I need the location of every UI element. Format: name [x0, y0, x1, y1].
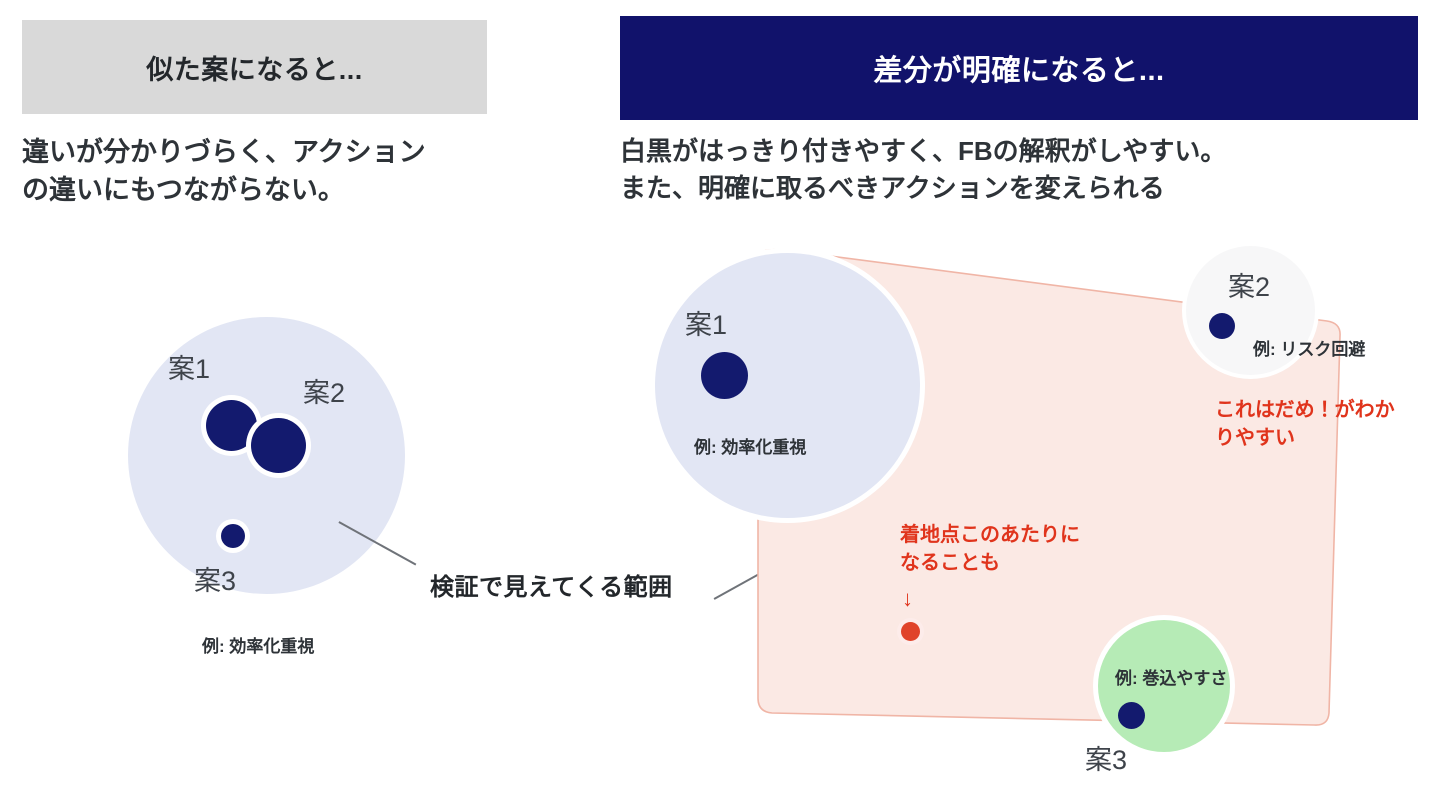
left-plan1-label: 案1 [168, 347, 210, 386]
right-plan2-dot [1209, 313, 1235, 339]
left-panel-header: 似た案になると... [22, 20, 487, 114]
right-panel-subtitle: 白黒がはっきり付きやすく、FBの解釈がしやすい。 また、明確に取るべきアクション… [620, 133, 1400, 207]
left-panel-subtitle: 違いが分かりづらく、アクション の違いにもつながらない。 [22, 133, 542, 210]
left-caption: 例: 効率化重視 [202, 632, 314, 657]
left-plan1-dot [206, 400, 257, 451]
right-plan2-caption: 例: リスク回避 [1253, 335, 1365, 360]
landing-note: 着地点このあたりに なることも [900, 522, 1130, 577]
down-arrow-icon: ↓ [902, 588, 913, 610]
right-plan3-caption: 例: 巻込やすさ [1115, 664, 1227, 689]
right-panel-header-text: 差分が明確になると... [873, 47, 1164, 89]
left-panel-header-text: 似た案になると... [146, 48, 363, 87]
right-plan3-dot [1118, 702, 1145, 729]
risk-note: これはだめ！がわか りやすい [1215, 397, 1440, 452]
right-plan1-circle [655, 253, 920, 518]
right-plan3-label: 案3 [1085, 738, 1127, 777]
right-panel-header: 差分が明確になると... [620, 16, 1418, 120]
right-plan1-caption: 例: 効率化重視 [694, 433, 806, 458]
left-plan3-label: 案3 [194, 559, 236, 598]
right-plan1-dot [701, 352, 748, 399]
landing-point-dot [901, 622, 920, 641]
right-plan1-label: 案1 [685, 303, 727, 342]
scope-annotation-label: 検証で見えてくる範囲 [430, 567, 673, 602]
left-plan2-dot [251, 418, 306, 473]
slide-canvas: 似た案になると... 違いが分かりづらく、アクション の違いにもつながらない。 … [0, 0, 1440, 792]
right-plan2-label: 案2 [1228, 265, 1270, 304]
left-plan3-dot [221, 524, 245, 548]
left-plan2-label: 案2 [303, 371, 345, 410]
